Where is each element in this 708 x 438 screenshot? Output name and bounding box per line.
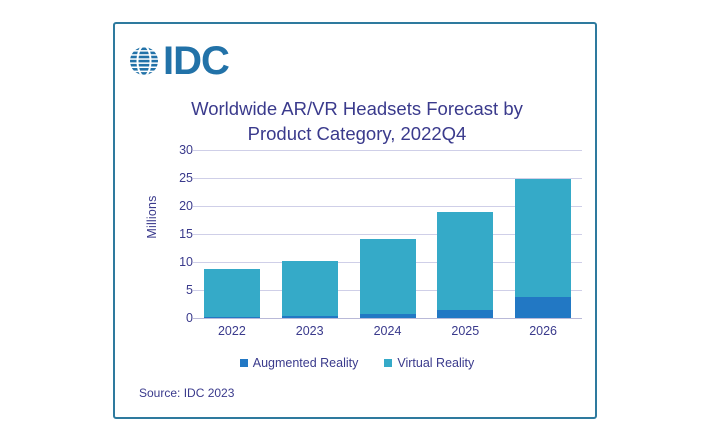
y-axis-tick-label: 20: [157, 199, 193, 213]
x-axis-tick-label: 2022: [194, 324, 270, 338]
bar-segment-augmented-reality[interactable]: [515, 297, 571, 318]
legend-item[interactable]: Virtual Reality: [384, 356, 474, 370]
bar-group[interactable]: [515, 179, 571, 318]
bar-segment-virtual-reality[interactable]: [360, 239, 416, 314]
legend-swatch-icon: [240, 359, 248, 367]
chart-title: Worldwide AR/VR Headsets Forecast by Pro…: [145, 96, 569, 146]
legend-label: Virtual Reality: [397, 356, 474, 370]
bar-segment-augmented-reality[interactable]: [282, 316, 338, 318]
bar-group[interactable]: [360, 238, 416, 318]
bar-segment-augmented-reality[interactable]: [204, 317, 260, 318]
y-axis-ticks: 051015202530: [157, 150, 193, 318]
bar-segment-virtual-reality[interactable]: [204, 269, 260, 317]
legend-item[interactable]: Augmented Reality: [240, 356, 359, 370]
chart-title-line-2: Product Category, 2022Q4: [145, 121, 569, 146]
x-axis-ticks: 20222023202420252026: [193, 324, 582, 344]
bar-group[interactable]: [282, 261, 338, 318]
x-axis-tick-label: 2025: [427, 324, 503, 338]
y-axis-tick-label: 30: [157, 143, 193, 157]
y-axis-tick-label: 5: [157, 283, 193, 297]
idc-logo-text: IDC: [163, 41, 229, 81]
x-axis-tick-label: 2023: [272, 324, 348, 338]
legend-swatch-icon: [384, 359, 392, 367]
plot-area: Millions 051015202530 202220232024202520…: [115, 150, 599, 350]
chart-card: IDC Worldwide AR/VR Headsets Forecast by…: [113, 22, 597, 419]
y-axis-tick-label: 10: [157, 255, 193, 269]
y-axis-tick-label: 0: [157, 311, 193, 325]
globe-icon: [127, 44, 161, 78]
y-axis-tick-label: 25: [157, 171, 193, 185]
gridline: [193, 318, 582, 319]
bar-segment-augmented-reality[interactable]: [360, 314, 416, 318]
bar-group[interactable]: [204, 269, 260, 318]
x-axis-tick-label: 2024: [350, 324, 426, 338]
bar-segment-virtual-reality[interactable]: [282, 261, 338, 316]
idc-logo: IDC: [127, 41, 229, 81]
bar-segment-virtual-reality[interactable]: [515, 179, 571, 297]
x-axis-tick-label: 2026: [505, 324, 581, 338]
y-axis-tick-label: 15: [157, 227, 193, 241]
bar-group[interactable]: [437, 212, 493, 318]
chart-title-line-1: Worldwide AR/VR Headsets Forecast by: [145, 96, 569, 121]
bar-segment-virtual-reality[interactable]: [437, 212, 493, 309]
source-note: Source: IDC 2023: [139, 386, 234, 400]
bar-segment-augmented-reality[interactable]: [437, 310, 493, 318]
legend-label: Augmented Reality: [253, 356, 359, 370]
chart-legend: Augmented RealityVirtual Reality: [115, 356, 599, 370]
bar-series-container: [193, 150, 582, 318]
